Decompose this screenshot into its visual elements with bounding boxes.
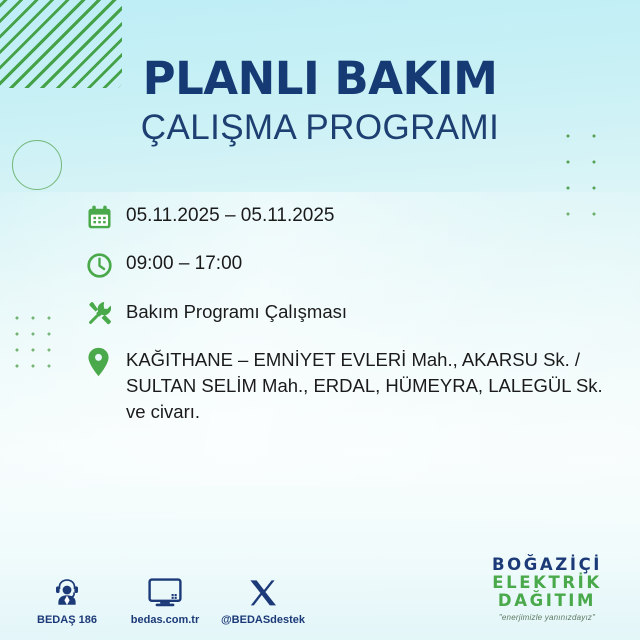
planned-maintenance-poster: PLANLI BAKIM ÇALIŞMA PROGRAMI [0, 0, 640, 640]
contact-social-label: @BEDASdestek [221, 614, 305, 626]
call-center-agent-icon [51, 574, 83, 608]
detail-time-text: 09:00 – 17:00 [126, 248, 242, 277]
detail-location-text: KAĞITHANE – EMNİYET EVLERİ Mah., AKARSU … [126, 344, 626, 425]
clock-icon [86, 248, 126, 282]
brand-line-2: ELEKTRİK [472, 574, 622, 592]
brand-tagline: "enerjimizle yanınızdayız" [472, 613, 622, 622]
detail-row-time: 09:00 – 17:00 [86, 248, 626, 282]
contact-website[interactable]: bedas.com.tr [126, 574, 204, 626]
location-pin-icon [86, 344, 126, 381]
contact-social[interactable]: @BEDASdestek [224, 574, 302, 626]
brand-line-1: BOĞAZİÇİ [472, 556, 622, 574]
footer-contacts: BEDAŞ 186 bedas.com.tr [28, 574, 302, 626]
page-title: PLANLI BAKIM [0, 56, 640, 101]
page-subtitle: ÇALIŞMA PROGRAMI [0, 110, 640, 145]
contact-phone[interactable]: BEDAŞ 186 [28, 574, 106, 626]
detail-row-location: KAĞITHANE – EMNİYET EVLERİ Mah., AKARSU … [86, 344, 626, 425]
x-twitter-icon [248, 574, 278, 608]
calendar-icon [86, 200, 126, 234]
tools-icon [86, 296, 126, 330]
detail-date-text: 05.11.2025 – 05.11.2025 [126, 200, 335, 229]
contact-website-label: bedas.com.tr [131, 614, 199, 626]
detail-work-text: Bakım Programı Çalışması [126, 296, 347, 325]
brand-line-3: DAĞITIM [472, 592, 622, 610]
bedas-logo: BOĞAZİÇİ ELEKTRİK DAĞITIM "enerjimizle y… [472, 556, 622, 622]
headline-block: PLANLI BAKIM ÇALIŞMA PROGRAMI [0, 56, 640, 145]
dot-grid-decoration-left [7, 308, 59, 374]
circle-outline-decoration [12, 140, 62, 190]
contact-phone-label: BEDAŞ 186 [37, 614, 97, 626]
detail-row-work-type: Bakım Programı Çalışması [86, 296, 626, 330]
detail-row-date: 05.11.2025 – 05.11.2025 [86, 200, 626, 234]
details-list: 05.11.2025 – 05.11.2025 09:00 – 17:00 [86, 200, 626, 425]
monitor-icon [148, 574, 182, 608]
